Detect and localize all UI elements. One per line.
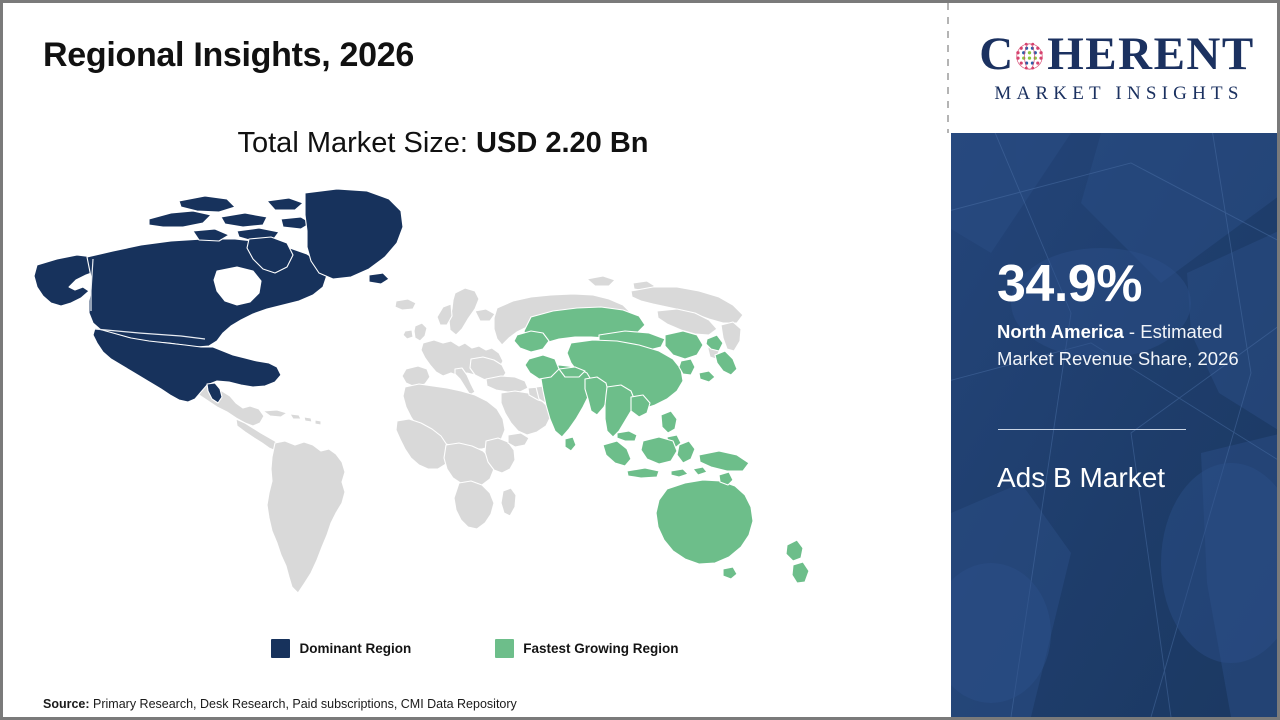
page-title: Regional Insights, 2026 <box>43 36 414 75</box>
logo-tagline: MARKET INSIGHTS <box>990 83 1243 105</box>
stat-divider-rule <box>998 429 1186 430</box>
total-market-size-label: Total Market Size: <box>238 127 477 159</box>
regional-insights-slide: Regional Insights, 2026 Total Market Siz… <box>0 0 1280 720</box>
logo-wordmark: C <box>979 32 1254 78</box>
source-note: Source: Primary Research, Desk Research,… <box>43 697 517 711</box>
stat-region-name: North America <box>997 321 1124 342</box>
world-map <box>31 183 841 618</box>
map-region-north-america <box>34 189 403 403</box>
brand-logo: C <box>951 3 1280 133</box>
dotted-globe-icon <box>1013 40 1046 73</box>
highlight-stat-panel: 34.9% North America - Estimated Market R… <box>951 133 1280 717</box>
legend-item-fastest-growing: Fastest Growing Region <box>495 639 678 658</box>
legend-item-dominant: Dominant Region <box>271 639 411 658</box>
vertical-dashed-divider <box>947 3 949 133</box>
left-content-pane: Regional Insights, 2026 Total Market Siz… <box>3 3 947 717</box>
legend-label-dominant: Dominant Region <box>299 641 411 656</box>
total-market-size-line: Total Market Size: USD 2.20 Bn <box>3 127 883 160</box>
source-text: Primary Research, Desk Research, Paid su… <box>90 697 517 711</box>
square-swatch-icon <box>271 639 290 658</box>
total-market-size-value: USD 2.20 Bn <box>476 127 648 159</box>
logo-letter-c: C <box>979 31 1013 78</box>
market-name: Ads B Market <box>997 461 1277 495</box>
source-label: Source: <box>43 697 90 711</box>
logo-wordmark-text: HERENT <box>1047 31 1255 78</box>
map-region-asia-pacific <box>514 307 809 583</box>
map-legend: Dominant Region Fastest Growing Region <box>3 639 947 658</box>
panel-background-art <box>951 133 1280 717</box>
legend-label-fastest-growing: Fastest Growing Region <box>523 641 678 656</box>
stat-percentage: 34.9% <box>997 258 1142 310</box>
stat-description: North America - Estimated Market Revenue… <box>997 319 1269 373</box>
world-map-svg <box>31 183 841 618</box>
square-swatch-icon <box>495 639 514 658</box>
map-region-inactive <box>181 276 743 593</box>
